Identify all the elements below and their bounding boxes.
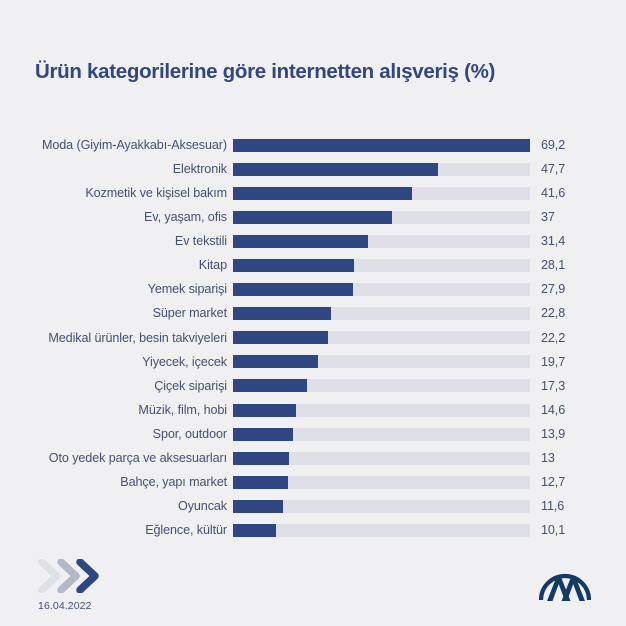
bar-track <box>233 283 530 296</box>
bar-value-label: 69,2 <box>541 139 565 152</box>
bar-value-label: 22,8 <box>541 307 565 320</box>
footer: 16.04.2022 <box>0 548 626 626</box>
bar-category-label: Yemek siparişi <box>0 283 227 296</box>
bar-row: Moda (Giyim-Ayakkabı-Aksesuar)69,2 <box>0 133 626 157</box>
bar-fill <box>233 500 283 513</box>
bar-value-label: 31,4 <box>541 235 565 248</box>
bar-fill <box>233 476 288 489</box>
bar-row: Ev, yaşam, ofis37 <box>0 205 626 229</box>
bar-value-label: 10,1 <box>541 524 565 537</box>
bar-fill <box>233 307 331 320</box>
bar-value-label: 13 <box>541 452 555 465</box>
bar-track <box>233 259 530 272</box>
bar-fill <box>233 428 293 441</box>
bar-fill <box>233 404 296 417</box>
bar-row: Spor, outdoor13,9 <box>0 422 626 446</box>
bar-fill <box>233 211 392 224</box>
bar-track <box>233 163 530 176</box>
bar-track <box>233 187 530 200</box>
bar-row: Yemek siparişi27,9 <box>0 278 626 302</box>
infographic-canvas: Ürün kategorilerine göre internetten alı… <box>0 0 626 626</box>
bar-fill <box>233 163 438 176</box>
bar-row: Eğlence, kültür10,1 <box>0 519 626 543</box>
bar-value-label: 41,6 <box>541 187 565 200</box>
bar-value-label: 19,7 <box>541 356 565 369</box>
bar-category-label: Medikal ürünler, besin takviyeleri <box>0 332 227 345</box>
page-title: Ürün kategorilerine göre internetten alı… <box>35 60 495 84</box>
bar-track <box>233 235 530 248</box>
bar-fill <box>233 355 318 368</box>
bar-fill <box>233 283 353 296</box>
bar-category-label: Elektronik <box>0 163 227 176</box>
bar-value-label: 12,7 <box>541 476 565 489</box>
bar-category-label: Spor, outdoor <box>0 428 227 441</box>
bar-track <box>233 404 530 417</box>
bar-category-label: Ev tekstili <box>0 235 227 248</box>
bar-track <box>233 500 530 513</box>
bar-category-label: Moda (Giyim-Ayakkabı-Aksesuar) <box>0 139 227 152</box>
bar-category-label: Bahçe, yapı market <box>0 476 227 489</box>
bar-fill <box>233 187 412 200</box>
bar-fill <box>233 235 368 248</box>
bar-category-label: Eğlence, kültür <box>0 524 227 537</box>
bar-fill <box>233 379 307 392</box>
bar-row: Oto yedek parça ve aksesuarları13 <box>0 446 626 470</box>
bar-row: Süper market22,8 <box>0 302 626 326</box>
bar-category-label: Kozmetik ve kişisel bakım <box>0 187 227 200</box>
bar-fill <box>233 331 328 344</box>
bar-row: Bahçe, yapı market12,7 <box>0 470 626 494</box>
bar-category-label: Yiyecek, içecek <box>0 356 227 369</box>
bar-fill <box>233 139 530 152</box>
bar-value-label: 17,3 <box>541 380 565 393</box>
bar-row: Oyuncak11,6 <box>0 494 626 518</box>
bar-category-label: Oto yedek parça ve aksesuarları <box>0 452 227 465</box>
bar-category-label: Süper market <box>0 307 227 320</box>
bar-category-label: Oyuncak <box>0 500 227 513</box>
bar-track <box>233 355 530 368</box>
bar-track <box>233 524 530 537</box>
bar-track <box>233 476 530 489</box>
bar-category-label: Çiçek siparişi <box>0 380 227 393</box>
aa-anadolu-agency-logo <box>536 560 594 602</box>
bar-category-label: Müzik, film, hobi <box>0 404 227 417</box>
bar-row: Kitap28,1 <box>0 253 626 277</box>
bar-row: Yiyecek, içecek19,7 <box>0 350 626 374</box>
triple-chevron-right-icon <box>38 559 118 593</box>
bar-row: Çiçek siparişi17,3 <box>0 374 626 398</box>
bar-track <box>233 211 530 224</box>
bar-track <box>233 331 530 344</box>
bar-track <box>233 428 530 441</box>
bar-track <box>233 379 530 392</box>
bar-value-label: 22,2 <box>541 332 565 345</box>
bar-value-label: 47,7 <box>541 163 565 176</box>
bar-value-label: 14,6 <box>541 404 565 417</box>
bar-value-label: 37 <box>541 211 555 224</box>
bar-fill <box>233 259 354 272</box>
bar-row: Müzik, film, hobi14,6 <box>0 398 626 422</box>
bar-value-label: 27,9 <box>541 283 565 296</box>
bar-category-label: Ev, yaşam, ofis <box>0 211 227 224</box>
bar-row: Medikal ürünler, besin takviyeleri22,2 <box>0 326 626 350</box>
bar-fill <box>233 524 276 537</box>
bar-value-label: 11,6 <box>541 500 564 513</box>
bar-track <box>233 452 530 465</box>
bar-track <box>233 139 530 152</box>
bar-value-label: 28,1 <box>541 259 565 272</box>
bar-row: Elektronik47,7 <box>0 157 626 181</box>
bar-track <box>233 307 530 320</box>
publication-date: 16.04.2022 <box>38 600 92 612</box>
bar-category-label: Kitap <box>0 259 227 272</box>
bar-chart: Moda (Giyim-Ayakkabı-Aksesuar)69,2Elektr… <box>0 133 626 543</box>
bar-fill <box>233 452 289 465</box>
bar-value-label: 13,9 <box>541 428 565 441</box>
bar-row: Kozmetik ve kişisel bakım41,6 <box>0 181 626 205</box>
bar-row: Ev tekstili31,4 <box>0 229 626 253</box>
